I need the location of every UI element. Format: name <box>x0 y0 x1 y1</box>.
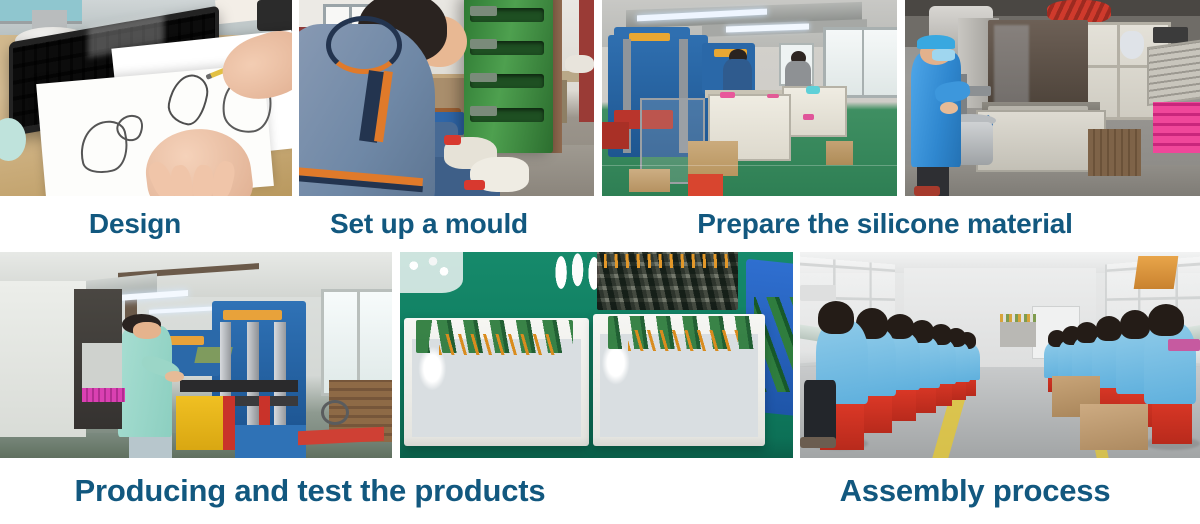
caption-row-1: Design Set up a mould Prepare the silico… <box>0 196 1200 252</box>
assembly-photo <box>800 252 1200 458</box>
process-image-design[interactable] <box>0 0 292 196</box>
process-image-silicone[interactable] <box>905 0 1200 196</box>
caption-assembly-process: Assembly process <box>800 458 1150 524</box>
mould-photo <box>299 0 594 196</box>
caption-prepare-the-silicone-material: Prepare the silicone material <box>640 196 1130 252</box>
process-gallery: Design Set up a mould Prepare the silico… <box>0 0 1200 524</box>
process-image-mould[interactable] <box>299 0 594 196</box>
process-row-1 <box>0 0 1200 196</box>
products-photo <box>400 252 793 458</box>
process-image-producing[interactable] <box>0 252 392 458</box>
workshop-photo <box>602 0 897 196</box>
producing-photo <box>0 252 392 458</box>
process-image-workshop[interactable] <box>602 0 897 196</box>
caption-producing-and-test: Producing and test the products <box>0 458 620 524</box>
design-photo <box>0 0 292 196</box>
process-image-assembly[interactable] <box>800 252 1200 458</box>
process-row-2 <box>0 252 1200 458</box>
process-image-products[interactable] <box>400 252 793 458</box>
silicone-photo <box>905 0 1200 196</box>
caption-row-2: Producing and test the products Assembly… <box>0 458 1200 524</box>
caption-set-up-a-mould: Set up a mould <box>299 196 559 252</box>
caption-design: Design <box>0 196 270 252</box>
